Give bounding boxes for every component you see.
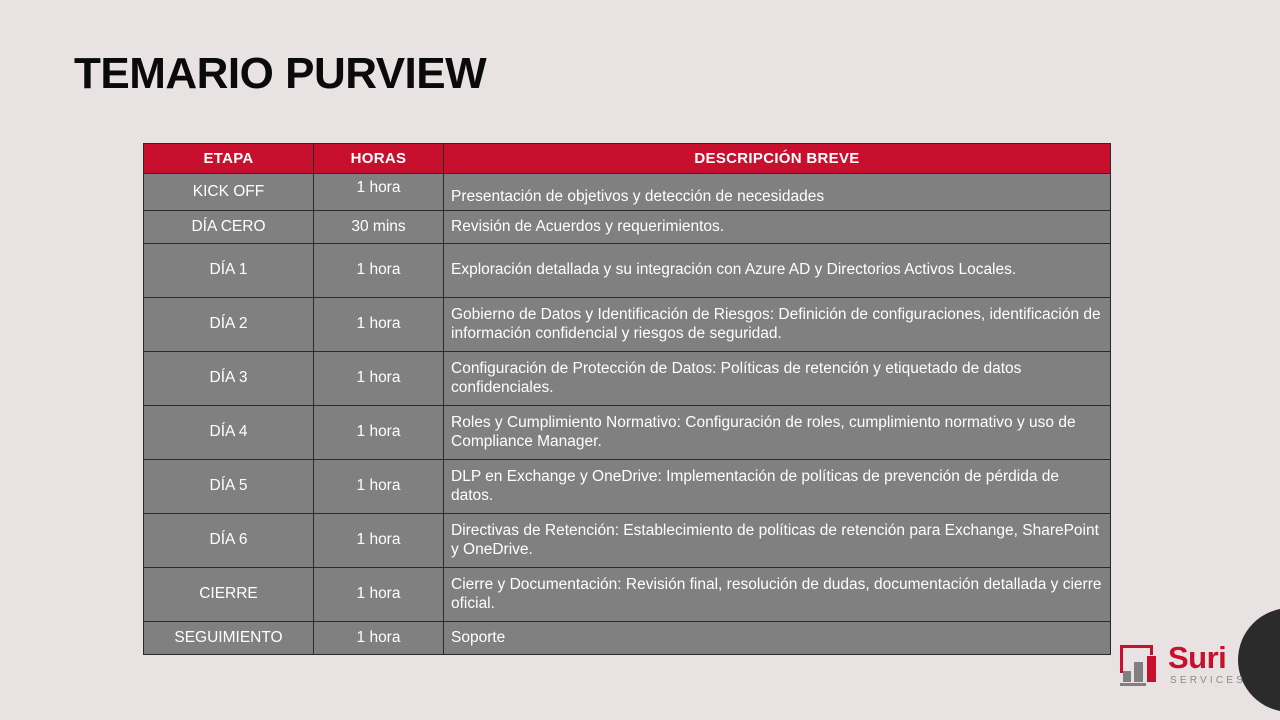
table-row: CIERRE1 horaCierre y Documentación: Revi…: [144, 568, 1111, 622]
table-row: DÍA 31 horaConfiguración de Protección d…: [144, 352, 1111, 406]
cell-etapa: DÍA 4: [144, 406, 314, 460]
table-row: SEGUIMIENTO1 horaSoporte: [144, 622, 1111, 655]
cell-horas: 1 hora: [314, 298, 444, 352]
logo-text-block: Suri SERVICES: [1168, 643, 1246, 686]
table-row: DÍA 61 horaDirectivas de Retención: Esta…: [144, 514, 1111, 568]
column-header-etapa: ETAPA: [144, 144, 314, 174]
cell-etapa: DÍA 1: [144, 244, 314, 298]
table-row: DÍA 51 horaDLP en Exchange y OneDrive: I…: [144, 460, 1111, 514]
cell-etapa: DÍA 5: [144, 460, 314, 514]
cell-descripcion: Directivas de Retención: Establecimiento…: [444, 514, 1111, 568]
agenda-table-container: ETAPA HORAS DESCRIPCIÓN BREVE KICK OFF1 …: [143, 143, 1110, 655]
cell-descripcion: DLP en Exchange y OneDrive: Implementaci…: [444, 460, 1111, 514]
table-header-row: ETAPA HORAS DESCRIPCIÓN BREVE: [144, 144, 1111, 174]
page-title: TEMARIO PURVIEW: [74, 50, 486, 98]
agenda-table: ETAPA HORAS DESCRIPCIÓN BREVE KICK OFF1 …: [143, 143, 1111, 655]
cell-descripcion: Revisión de Acuerdos y requerimientos.: [444, 211, 1111, 244]
cell-etapa: DÍA 2: [144, 298, 314, 352]
cell-descripcion: Presentación de objetivos y detección de…: [444, 174, 1111, 211]
logo-tagline: SERVICES: [1170, 675, 1246, 686]
cell-descripcion: Soporte: [444, 622, 1111, 655]
cell-descripcion: Configuración de Protección de Datos: Po…: [444, 352, 1111, 406]
cell-horas: 1 hora: [314, 622, 444, 655]
cell-horas: 1 hora: [314, 568, 444, 622]
cell-etapa: DÍA CERO: [144, 211, 314, 244]
cell-etapa: CIERRE: [144, 568, 314, 622]
brand-logo: Suri SERVICES: [1118, 643, 1246, 687]
cell-horas: 1 hora: [314, 514, 444, 568]
cell-descripcion: Roles y Cumplimiento Normativo: Configur…: [444, 406, 1111, 460]
cell-horas: 1 hora: [314, 352, 444, 406]
cell-horas: 1 hora: [314, 174, 444, 211]
logo-wordmark: Suri: [1168, 643, 1226, 672]
table-body: KICK OFF1 horaPresentación de objetivos …: [144, 174, 1111, 655]
cell-horas: 1 hora: [314, 406, 444, 460]
column-header-horas: HORAS: [314, 144, 444, 174]
cell-descripcion: Exploración detallada y su integración c…: [444, 244, 1111, 298]
table-row: DÍA CERO30 minsRevisión de Acuerdos y re…: [144, 211, 1111, 244]
table-row: DÍA 11 horaExploración detallada y su in…: [144, 244, 1111, 298]
column-header-descripcion: DESCRIPCIÓN BREVE: [444, 144, 1111, 174]
cell-horas: 1 hora: [314, 460, 444, 514]
cell-etapa: DÍA 6: [144, 514, 314, 568]
bar-chart-icon: [1118, 643, 1160, 687]
table-row: KICK OFF1 horaPresentación de objetivos …: [144, 174, 1111, 211]
cell-descripcion: Cierre y Documentación: Revisión final, …: [444, 568, 1111, 622]
cell-etapa: DÍA 3: [144, 352, 314, 406]
cell-etapa: KICK OFF: [144, 174, 314, 211]
table-row: DÍA 41 horaRoles y Cumplimiento Normativ…: [144, 406, 1111, 460]
cell-descripcion: Gobierno de Datos y Identificación de Ri…: [444, 298, 1111, 352]
table-header: ETAPA HORAS DESCRIPCIÓN BREVE: [144, 144, 1111, 174]
cell-horas: 30 mins: [314, 211, 444, 244]
cell-etapa: SEGUIMIENTO: [144, 622, 314, 655]
cell-horas: 1 hora: [314, 244, 444, 298]
table-row: DÍA 21 horaGobierno de Datos y Identific…: [144, 298, 1111, 352]
